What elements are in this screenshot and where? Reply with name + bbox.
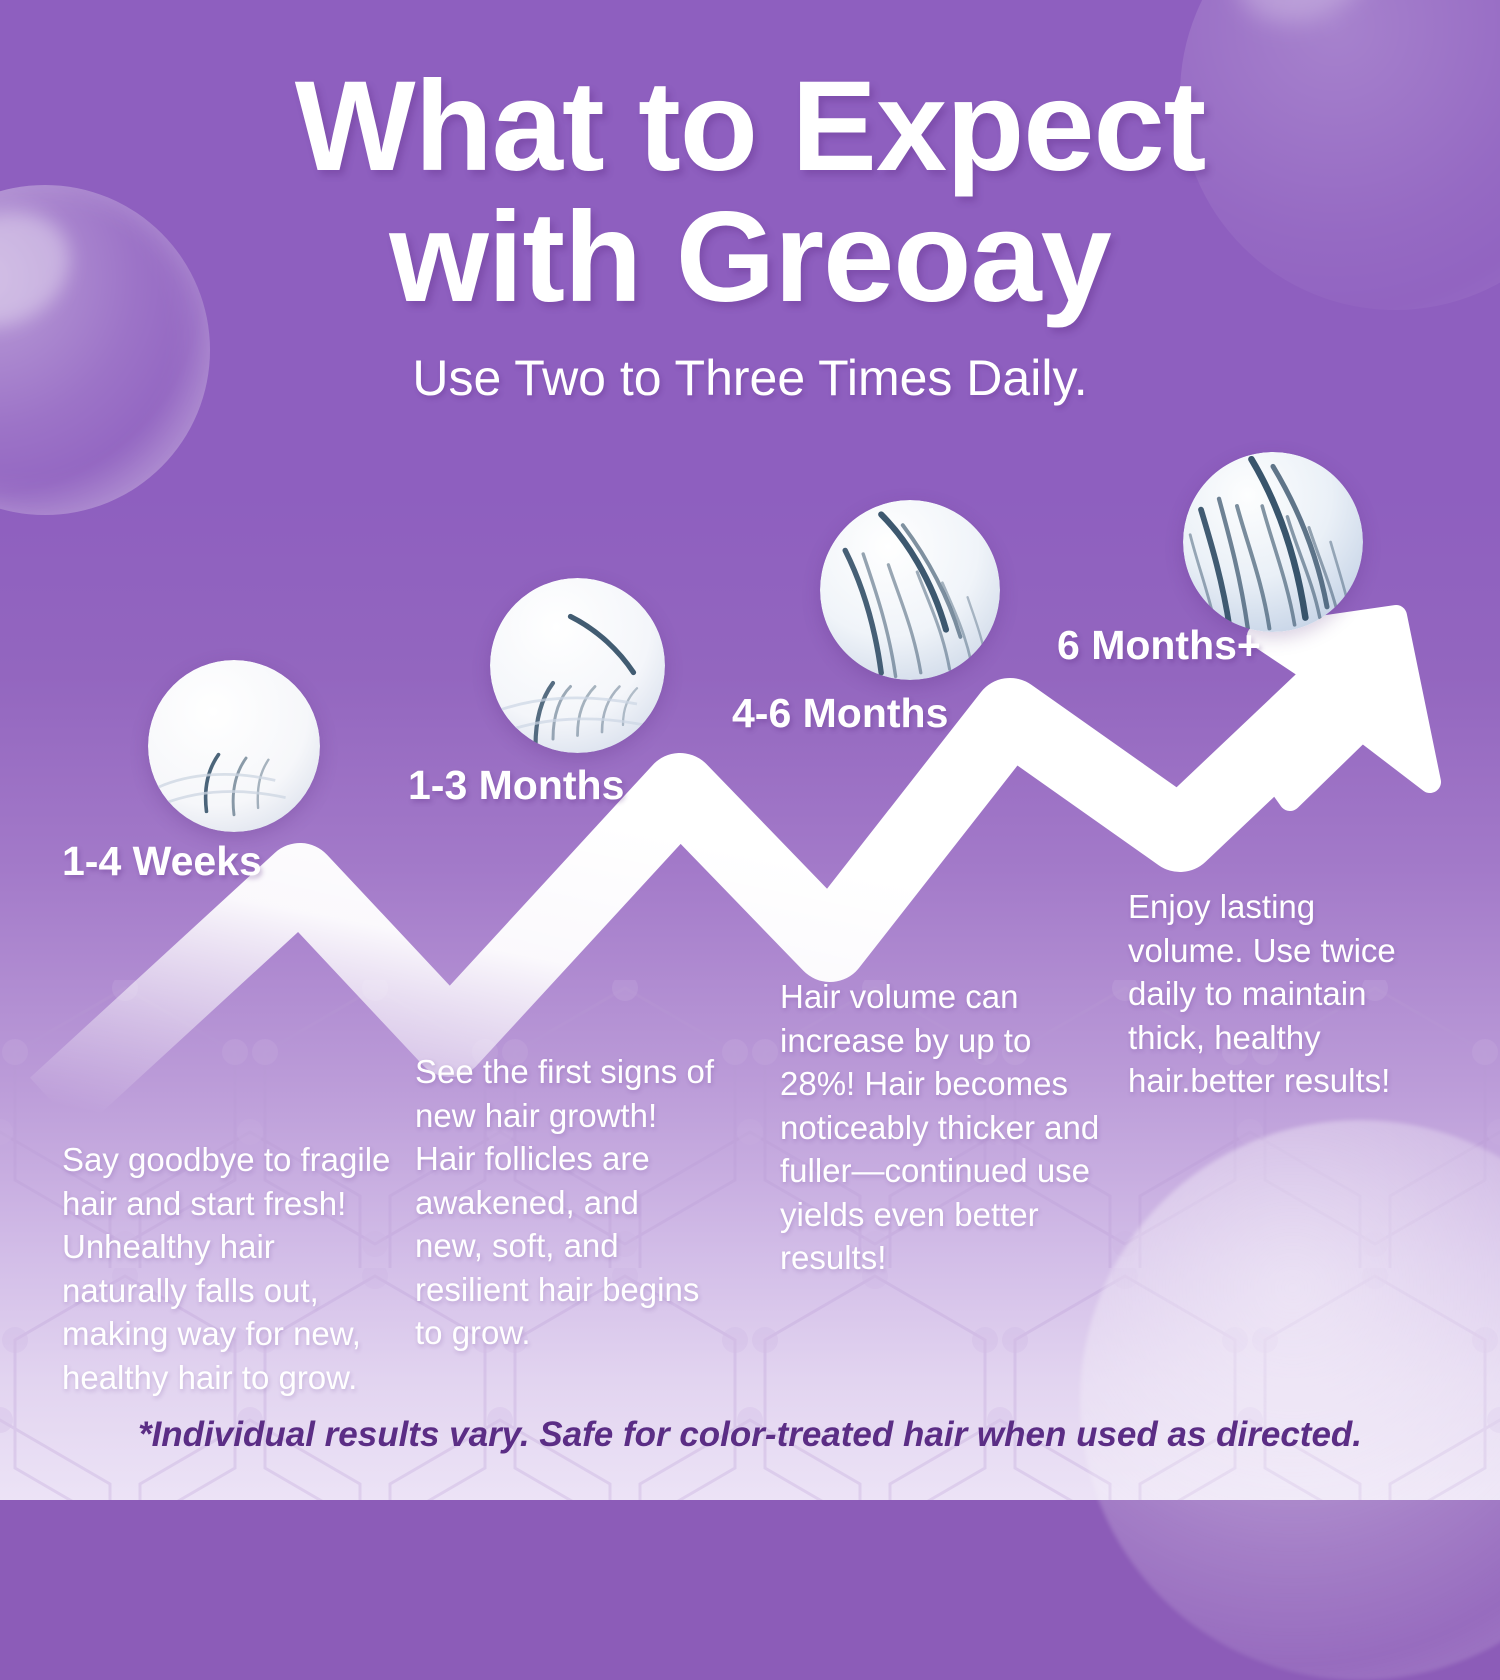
hair-density-photo-week-1-4 bbox=[148, 660, 320, 832]
hair-density-photo-month-4-6 bbox=[820, 500, 1000, 680]
stage-description-6-months-plus: Enjoy lasting volume. Use twice daily to… bbox=[1128, 885, 1428, 1103]
stage-description-1-4-weeks: Say goodbye to fragile hair and start fr… bbox=[62, 1138, 392, 1399]
stage-label-6-months-plus: 6 Months+ bbox=[1057, 622, 1261, 669]
hair-density-photo-month-6-plus bbox=[1183, 452, 1363, 632]
stage-description-4-6-months: Hair volume can increase by up to 28%! H… bbox=[780, 975, 1100, 1280]
hair-density-photo-month-1-3 bbox=[490, 578, 665, 753]
footer-disclaimer: *Individual results vary. Safe for color… bbox=[0, 1415, 1500, 1455]
stage-label-1-4-weeks: 1-4 Weeks bbox=[62, 838, 262, 885]
stage-label-4-6-months: 4-6 Months bbox=[732, 690, 948, 737]
stage-label-1-3-months: 1-3 Months bbox=[408, 762, 624, 809]
stage-description-1-3-months: See the first signs of new hair growth! … bbox=[415, 1050, 715, 1355]
arrow-head bbox=[1250, 616, 1430, 800]
